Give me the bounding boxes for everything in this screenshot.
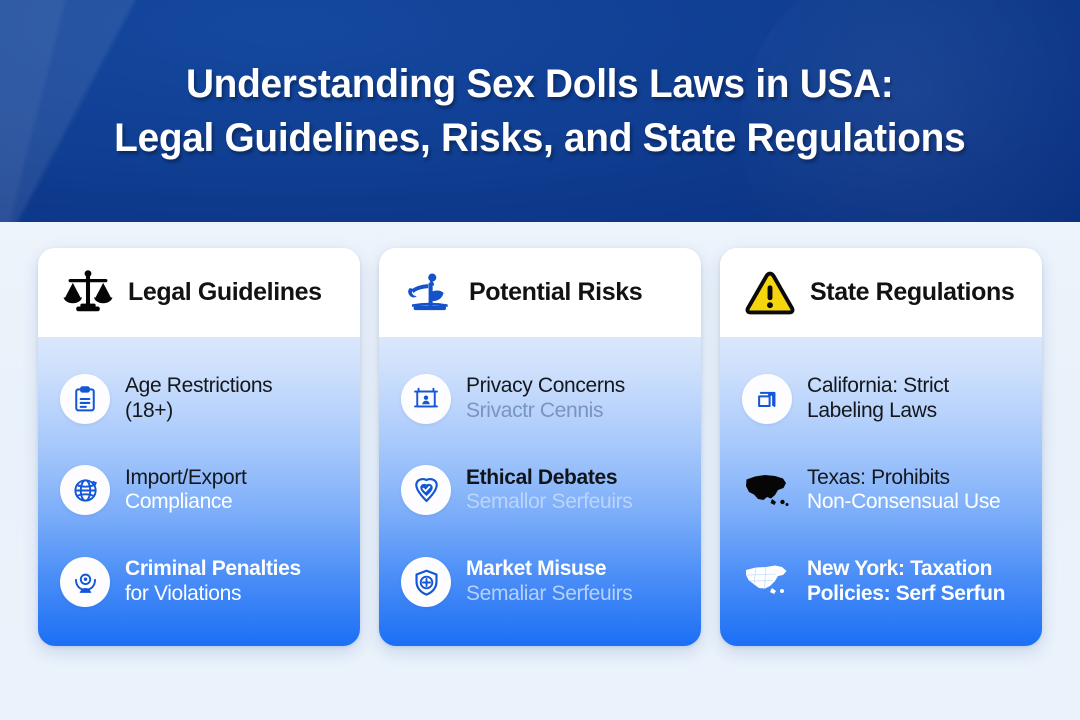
card-header: Potential Risks — [379, 248, 701, 337]
list-item-text: California: Strict Labeling Laws — [807, 374, 949, 424]
list-item[interactable]: Ethical Debates Semallor Serfeuirs — [401, 465, 687, 515]
shield-plus-icon — [401, 557, 451, 607]
list-item-line-1-text: Texas: Prohibits — [807, 466, 950, 489]
list-item-line-2: Srivactr Cennis — [466, 399, 625, 424]
list-item-line-1: Market Misuse — [466, 557, 632, 582]
page-title-line-2: Legal Guidelines, Risks, and State Regul… — [114, 111, 965, 165]
list-item[interactable]: Privacy Concerns Srivactr Cennis — [401, 374, 687, 424]
card-title: State Regulations — [810, 278, 1014, 307]
card-body: California: Strict Labeling Laws — [720, 337, 1042, 646]
list-item-text: Texas: Prohibits Non-Consensual Use — [807, 466, 1000, 516]
list-item-line-2: Semallor Serfeuirs — [466, 490, 632, 515]
list-item-text: Market Misuse Semaliar Serfeuirs — [466, 557, 632, 607]
card-header: State Regulations — [720, 248, 1042, 337]
card-potential-risks[interactable]: Potential Risks — [379, 248, 701, 646]
list-item[interactable]: California: Strict Labeling Laws — [742, 374, 1028, 424]
list-item[interactable]: New York: Taxation Policies: Serf Serfun — [742, 557, 1028, 607]
list-item-text: Privacy Concerns Srivactr Cennis — [466, 374, 625, 424]
scales-of-justice-icon — [60, 265, 116, 321]
list-item-line-2: for Violations — [125, 582, 301, 607]
california-map-icon — [742, 374, 792, 424]
list-item-line-2: Compliance — [125, 490, 247, 515]
list-item-line-1: Texas: Prohibits — [807, 466, 1000, 491]
list-item-line-1: Ethical Debates — [466, 466, 632, 491]
card-state-regulations[interactable]: State Regulations — [720, 248, 1042, 646]
user-shield-icon — [60, 557, 110, 607]
list-item-text: Criminal Penalties for Violations — [125, 557, 301, 607]
globe-icon — [60, 465, 110, 515]
list-item[interactable]: Import/Export Compliance — [60, 465, 346, 515]
list-item-line-1: Criminal Penalties — [125, 557, 301, 582]
list-item[interactable]: Age Restrictions (18+) — [60, 374, 346, 424]
list-item-line-1: Import/Export — [125, 466, 247, 491]
list-item-text: New York: Taxation Policies: Serf Serfun — [807, 557, 1005, 607]
list-item[interactable]: Criminal Penalties for Violations — [60, 557, 346, 607]
card-body: Privacy Concerns Srivactr Cennis — [379, 337, 701, 646]
card-legal-guidelines[interactable]: Legal Guidelines — [38, 248, 360, 646]
cards-row: Legal Guidelines — [38, 248, 1042, 646]
heart-shield-icon — [401, 465, 451, 515]
list-item-line-2: Policies: Serf Serfun — [807, 582, 1005, 607]
list-item-line-1: New York: Taxation — [807, 557, 1005, 582]
header-banner: Understanding Sex Dolls Laws in USA: Leg… — [0, 0, 1080, 222]
list-item-line-2: Semaliar Serfeuirs — [466, 582, 632, 607]
list-item-text: Age Restrictions (18+) — [125, 374, 272, 424]
texas-map-icon — [742, 465, 792, 515]
warning-triangle-icon — [742, 265, 798, 321]
list-item-line-1: Age Restrictions — [125, 374, 272, 399]
card-title: Legal Guidelines — [128, 278, 322, 307]
list-item-line-1: California: Strict — [807, 374, 949, 399]
clipboard-icon — [60, 374, 110, 424]
list-item[interactable]: Texas: Prohibits Non-Consensual Use — [742, 465, 1028, 515]
card-title: Potential Risks — [469, 278, 642, 307]
list-item-text: Ethical Debates Semallor Serfeuirs — [466, 466, 632, 516]
list-item-line-2: Labeling Laws — [807, 399, 949, 424]
list-item-line-2: (18+) — [125, 399, 272, 424]
privacy-badge-icon — [401, 374, 451, 424]
broken-scale-icon — [401, 265, 457, 321]
infographic-page: Understanding Sex Dolls Laws in USA: Leg… — [0, 0, 1080, 720]
new-york-map-icon — [742, 557, 792, 607]
card-header: Legal Guidelines — [38, 248, 360, 337]
card-body: Age Restrictions (18+) — [38, 337, 360, 646]
list-item[interactable]: Market Misuse Semaliar Serfeuirs — [401, 557, 687, 607]
page-title-line-1: Understanding Sex Dolls Laws in USA: — [186, 57, 893, 111]
list-item-line-1: Privacy Concerns — [466, 374, 625, 399]
list-item-line-2: Non-Consensual Use — [807, 490, 1000, 515]
list-item-text: Import/Export Compliance — [125, 466, 247, 516]
